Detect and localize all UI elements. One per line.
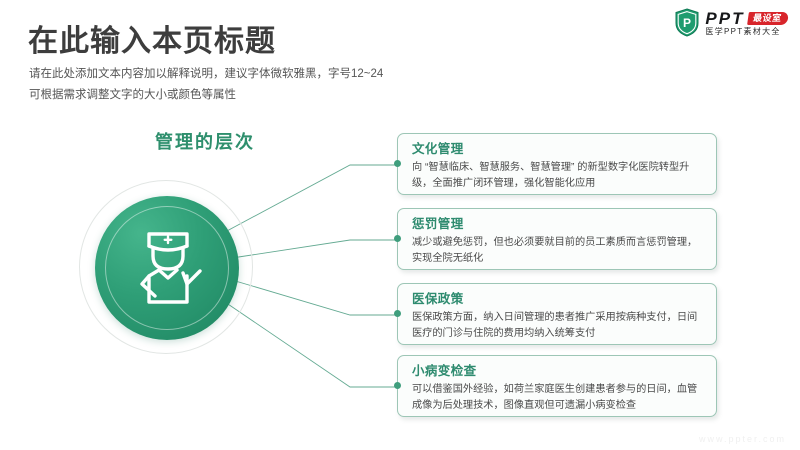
card-body: 可以借鉴国外经验，如荷兰家庭医生创建患者参与的日间，血管成像为后处理技术，图像直…: [412, 382, 704, 413]
info-card[interactable]: 文化管理 向 “智慧临床、智慧服务、智慧管理” 的新型数字化医院转型升级，全面推…: [397, 133, 717, 195]
doctor-figure-icon: [125, 224, 211, 314]
connector-line-3: [232, 280, 397, 315]
brand-tagline: 医学PPT素材大全: [705, 28, 788, 36]
card-title: 小病变检查: [412, 363, 704, 380]
shield-icon: P: [674, 8, 700, 37]
brand-row-top: PPT 最设室: [705, 10, 788, 27]
card-body: 减少或避免惩罚，但也必须要就目前的员工素质而言惩罚管理，实现全院无纸化: [412, 235, 704, 266]
brand-badge: 最设室: [748, 12, 789, 25]
connector-dot: [394, 160, 401, 167]
subtitle-line-1: 请在此处添加文本内容加以解释说明，建议字体微软雅黑，字号12~24: [29, 64, 383, 85]
card-title: 文化管理: [412, 141, 704, 158]
info-card[interactable]: 医保政策 医保政策方面，纳入日间管理的患者推广采用按病种支付，日间医疗的门诊与住…: [397, 283, 717, 345]
connector-dot: [394, 382, 401, 389]
brand-logo: P PPT 最设室 医学PPT素材大全: [674, 8, 788, 37]
connector-dot: [394, 310, 401, 317]
connector-line-2: [232, 240, 397, 258]
card-title: 医保政策: [412, 291, 704, 308]
card-body: 向 “智慧临床、智慧服务、智慧管理” 的新型数字化医院转型升级，全面推广闭环管理…: [412, 160, 704, 191]
cluster-heading: 管理的层次: [120, 128, 290, 154]
card-body: 医保政策方面，纳入日间管理的患者推广采用按病种支付，日间医疗的门诊与住院的费用均…: [412, 310, 704, 341]
connector-dot: [394, 235, 401, 242]
svg-text:P: P: [683, 16, 691, 30]
central-circle: [79, 180, 255, 356]
page-title: 在此输入本页标题: [28, 16, 276, 60]
brand-text-column: PPT 最设室 医学PPT素材大全: [705, 10, 788, 36]
subtitle-line-2: 可根据需求调整文字的大小或颜色等属性: [29, 85, 383, 106]
subtitle-block: 请在此处添加文本内容加以解释说明，建议字体微软雅黑，字号12~24 可根据需求调…: [29, 64, 383, 106]
card-title: 惩罚管理: [412, 216, 704, 233]
brand-name: PPT: [705, 10, 744, 27]
info-card[interactable]: 小病变检查 可以借鉴国外经验，如荷兰家庭医生创建患者参与的日间，血管成像为后处理…: [397, 355, 717, 417]
info-card[interactable]: 惩罚管理 减少或避免惩罚，但也必须要就目前的员工素质而言惩罚管理，实现全院无纸化: [397, 208, 717, 270]
watermark: www.ppter.com: [699, 434, 786, 444]
